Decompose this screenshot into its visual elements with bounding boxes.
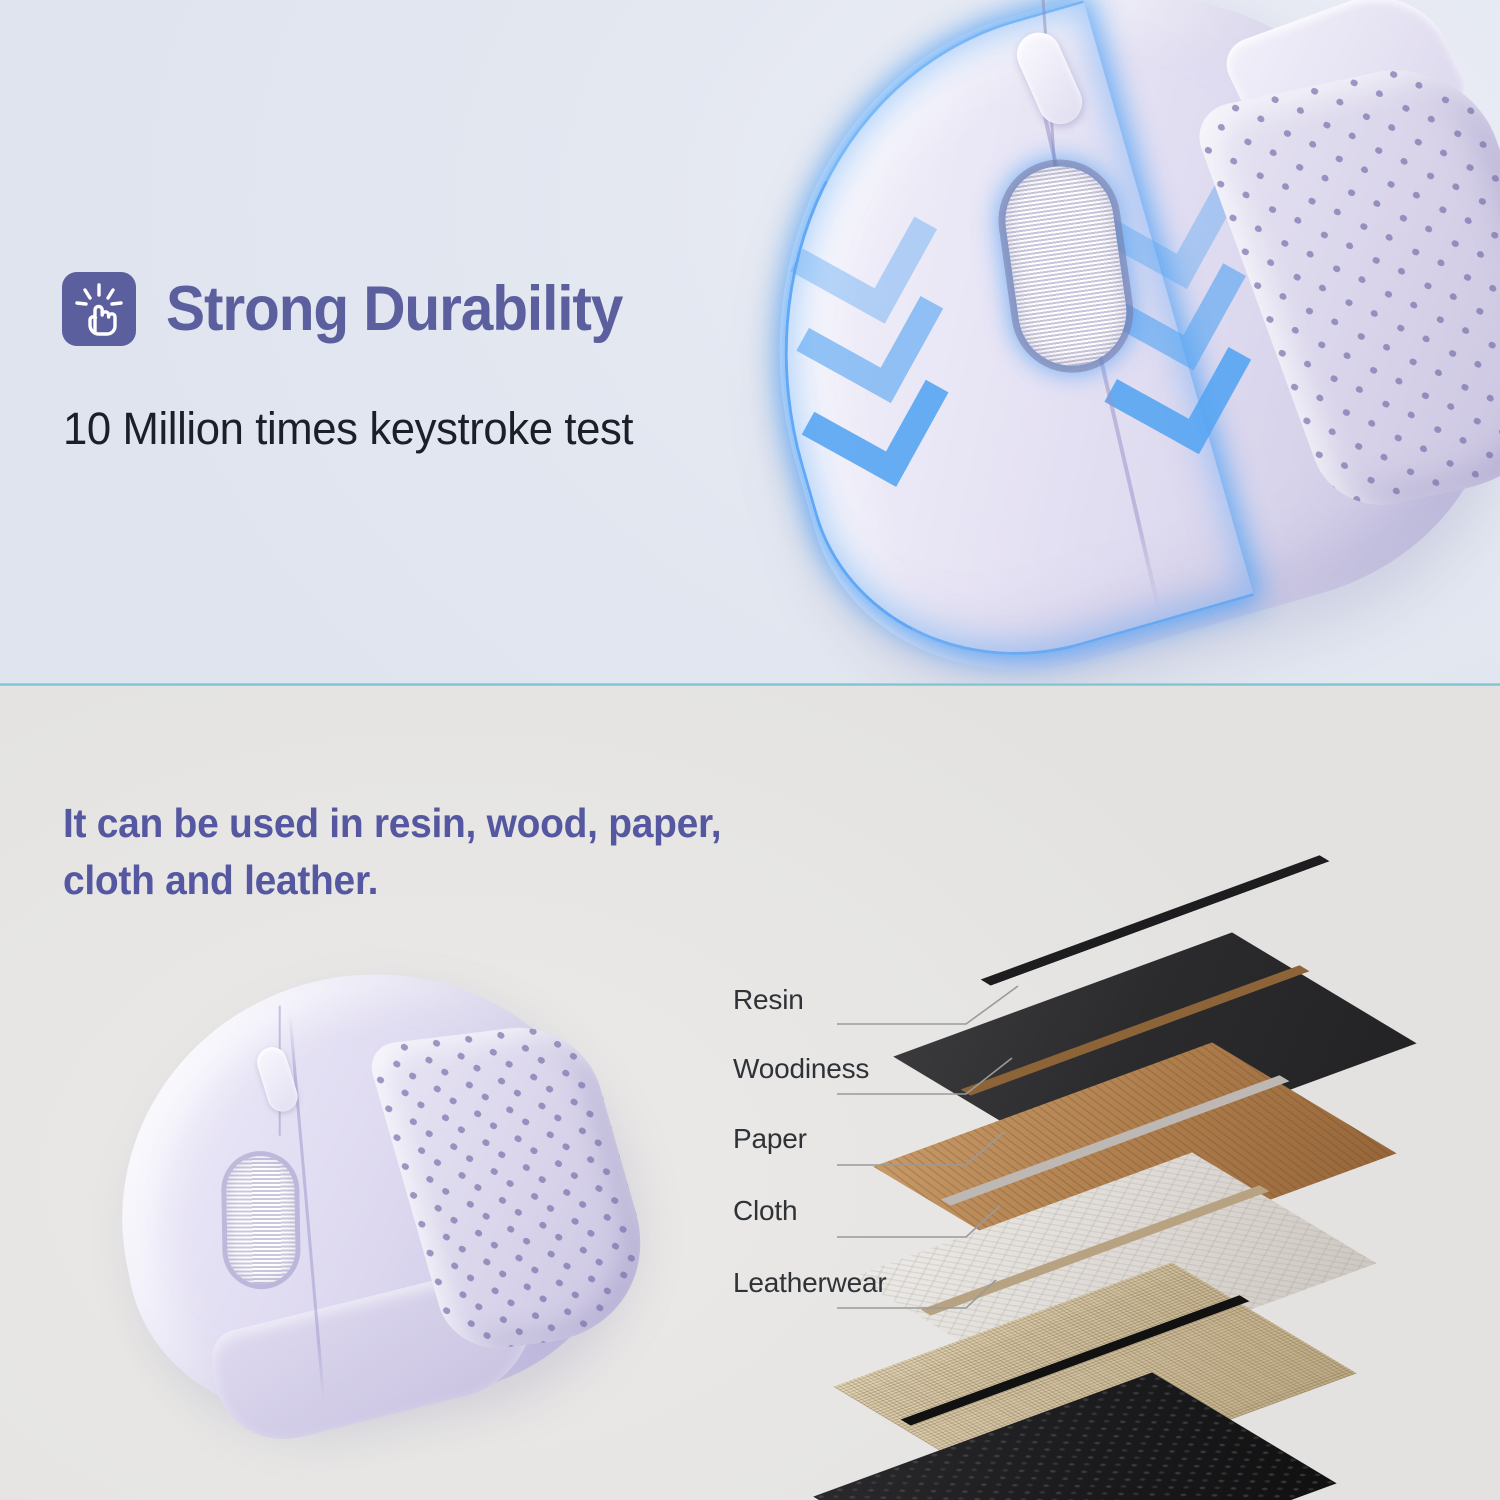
section-divider <box>0 683 1500 686</box>
mouse-product-image-top <box>700 0 1500 684</box>
leader-lines <box>0 686 1500 1500</box>
click-hand-icon <box>62 272 136 346</box>
durability-subtitle: 10 Million times keystroke test <box>63 403 633 455</box>
material-label-woodiness: Woodiness <box>733 1053 869 1085</box>
material-label-cloth: Cloth <box>733 1195 797 1227</box>
product-infographic-page: Strong Durability 10 Million times keyst… <box>0 0 1500 1500</box>
material-label-resin: Resin <box>733 984 804 1016</box>
page-title: Strong Durability <box>166 278 622 341</box>
material-label-leatherwear: Leatherwear <box>733 1267 886 1299</box>
durability-section: Strong Durability 10 Million times keyst… <box>0 0 1500 684</box>
durability-heading-row: Strong Durability <box>62 272 657 346</box>
material-label-paper: Paper <box>733 1123 807 1155</box>
